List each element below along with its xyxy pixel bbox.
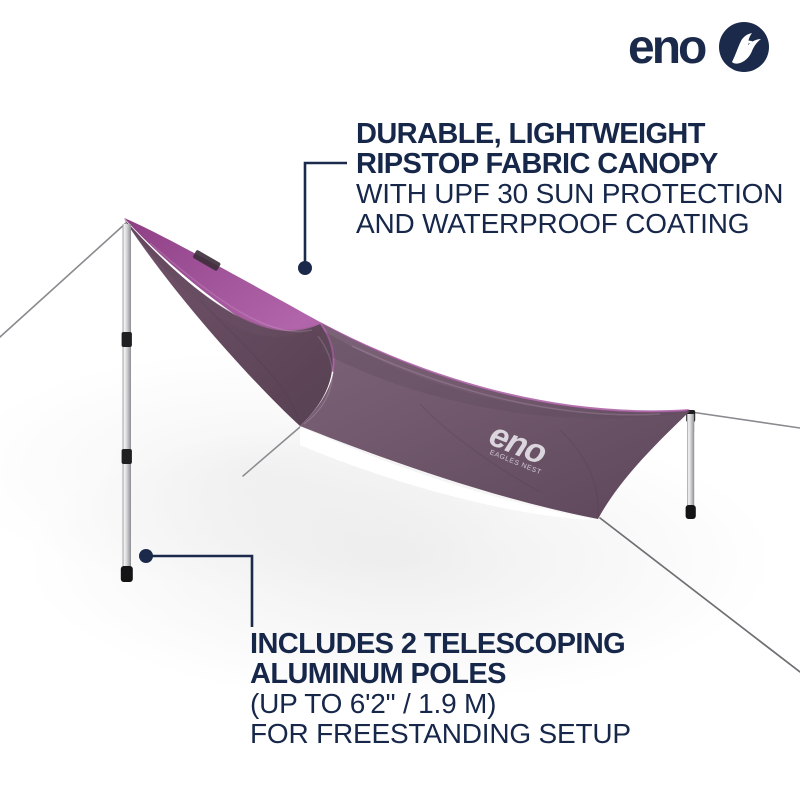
callout-canopy: DURABLE, LIGHTWEIGHT RIPSTOP FABRIC CANO… bbox=[356, 119, 783, 239]
leader-line-canopy bbox=[305, 163, 347, 268]
callout-canopy-line-4: AND WATERPROOF COATING bbox=[356, 209, 783, 239]
eagle-in-circle-icon bbox=[719, 22, 769, 72]
callout-poles-line-3: (UP TO 6'2" / 1.9 M) bbox=[250, 689, 631, 719]
brand-wordmark: eno bbox=[628, 21, 706, 74]
eno-brand-logo: eno bbox=[628, 18, 778, 80]
leader-dot-poles bbox=[139, 549, 153, 563]
callout-poles-line-2: ALUMINUM POLES bbox=[250, 659, 631, 689]
leader-line-poles bbox=[146, 556, 252, 627]
callout-poles-line-1: INCLUDES 2 TELESCOPING bbox=[250, 629, 631, 659]
callout-poles: INCLUDES 2 TELESCOPING ALUMINUM POLES (U… bbox=[250, 629, 631, 749]
leader-dot-canopy bbox=[298, 261, 312, 275]
callout-canopy-line-2: RIPSTOP FABRIC CANOPY bbox=[356, 149, 783, 179]
callout-poles-line-4: FOR FREESTANDING SETUP bbox=[250, 719, 631, 749]
infographic-canvas: eno EAGLES NEST eno DURABLE, LIGHTWEIGHT… bbox=[0, 0, 800, 800]
callout-canopy-line-1: DURABLE, LIGHTWEIGHT bbox=[356, 119, 783, 149]
callout-canopy-line-3: WITH UPF 30 SUN PROTECTION bbox=[356, 179, 783, 209]
